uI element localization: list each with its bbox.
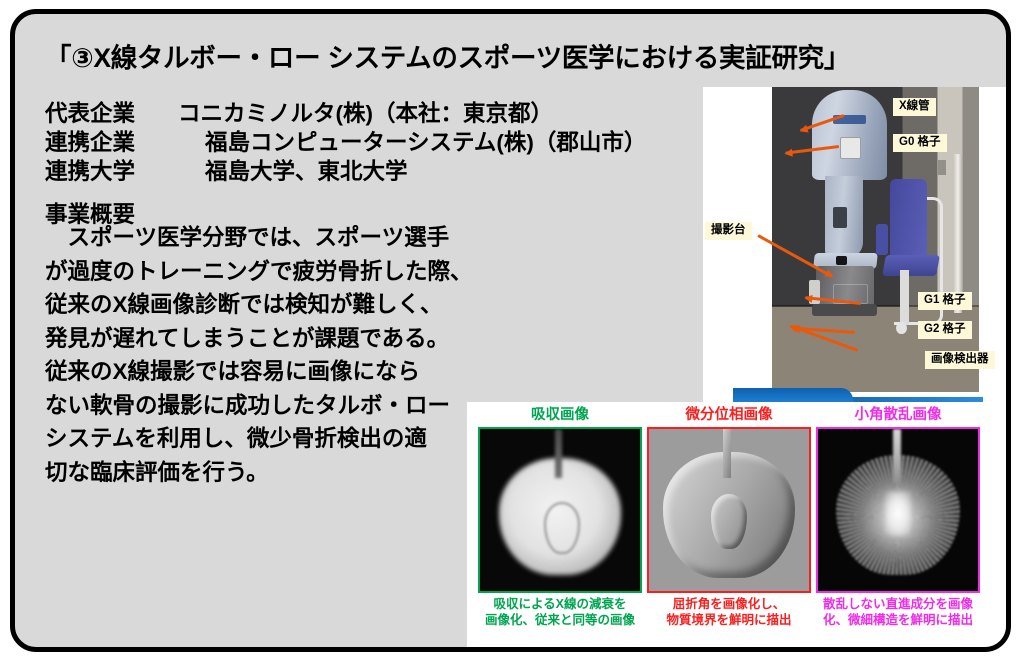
- machine-window: [840, 137, 861, 158]
- caption-line: 物質境界を鮮明に描出: [647, 613, 811, 629]
- callout-xray-tube: X線管: [893, 98, 936, 116]
- partner-value: 福島コンピューターシステム(株)（郡山市）: [205, 130, 646, 155]
- wall-pipe: [954, 154, 962, 313]
- fruit-stem: [723, 429, 731, 478]
- overview-line: 従来のX線撮影では容易に画像になら: [45, 355, 475, 389]
- partner-label: 連携大学: [45, 154, 205, 186]
- callout-g0-grating: G0 格子: [893, 134, 947, 152]
- overview-line: ない軟骨の撮影に成功したタルボ・ロー: [45, 389, 475, 423]
- xray-modality-panel: 吸収画像 吸収によるX線の減衰を 画像化、従来と同等の画像 微分位相画像: [467, 402, 1011, 652]
- page-title: 「③X線タルボー・ロー システムのスポーツ医学における実証研究」: [45, 36, 995, 75]
- chair-backrest: [890, 179, 927, 261]
- fruit-core: [885, 491, 911, 536]
- absorption-xray-image: [480, 429, 640, 591]
- fruit-pit: [711, 494, 746, 549]
- modality-differential-phase: 微分位相画像 屈折角を画像化し、 物質境界を鮮明に描出: [647, 406, 811, 628]
- caption-line: 化、微細構造を鮮明に描出: [816, 613, 980, 629]
- modality-caption: 屈折角を画像化し、 物質境界を鮮明に描出: [647, 597, 811, 628]
- machine-head: [812, 90, 886, 180]
- modality-title: 微分位相画像: [647, 406, 811, 424]
- fruit-stem: [893, 429, 901, 484]
- overview-line: 切な臨床評価を行う。: [45, 456, 475, 490]
- callout-imaging-table: 撮影台: [705, 222, 752, 240]
- caption-line: 吸収によるX線の減衰を: [478, 597, 642, 613]
- callout-g2-grating: G2 格子: [918, 321, 972, 339]
- blue-ribbon-decoration: [703, 378, 1011, 404]
- callout-g1-grating: G1 格子: [918, 292, 972, 310]
- partner-row-university: 連携大学福島大学、東北大学: [45, 154, 408, 186]
- partner-value: コニカミノルタ(株)（本社：東京都）: [178, 101, 553, 126]
- partner-label: 連携企業: [45, 125, 205, 157]
- chair-wheel: [896, 322, 906, 334]
- caption-line: 散乱しない直進成分を画像: [816, 597, 980, 613]
- modality-image: [478, 427, 642, 593]
- modality-caption: 吸収によるX線の減衰を 画像化、従来と同等の画像: [478, 597, 642, 628]
- differential-phase-xray-image: [649, 429, 809, 591]
- fruit-stem: [555, 429, 562, 478]
- caption-line: 画像化、従来と同等の画像: [478, 613, 642, 629]
- chair-post: [900, 270, 908, 325]
- modality-small-angle-scattering: 小角散乱画像 散乱しない直進成分を画像 化、微細構造を鮮明に描出: [816, 406, 980, 628]
- machine-deck-aperture: [836, 256, 847, 265]
- partner-value: 福島大学、東北大学: [205, 159, 408, 184]
- overview-line: スポーツ医学分野では、スポーツ選手: [45, 221, 475, 255]
- partner-label: 代表企業: [45, 96, 178, 128]
- overview-line: が過度のトレーニングで疲労骨折した際、: [45, 255, 475, 289]
- overview-line: 発見が遅れてしまうことが課題である。: [45, 322, 475, 356]
- modality-caption: 散乱しない直進成分を画像 化、微細構造を鮮明に描出: [816, 597, 980, 628]
- small-angle-scattering-xray-image: [818, 429, 978, 591]
- chair-seat: [882, 255, 940, 276]
- overview-body: スポーツ医学分野では、スポーツ選手 が過度のトレーニングで疲労骨折した際、 従来…: [45, 221, 475, 489]
- machine-plinth: [812, 304, 877, 315]
- caption-line: 屈折角を画像化し、: [647, 597, 811, 613]
- slide-frame: 「③X線タルボー・ロー システムのスポーツ医学における実証研究」 代表企業コニカ…: [10, 9, 1011, 652]
- system-photo-panel: X線管 G0 格子 撮影台 G1 格子 G2 格子 画像検出器: [703, 87, 1011, 404]
- modality-image: [816, 427, 980, 593]
- modality-title: 小角散乱画像: [816, 406, 980, 424]
- modality-title: 吸収画像: [478, 406, 642, 424]
- partner-row-representative: 代表企業コニカミノルタ(株)（本社：東京都）: [45, 96, 553, 128]
- wall-sign: [938, 160, 946, 175]
- callout-image-detector: 画像検出器: [925, 351, 995, 369]
- modality-absorption: 吸収画像 吸収によるX線の減衰を 画像化、従来と同等の画像: [478, 406, 642, 628]
- overview-line: システムを利用し、微少骨折検出の適: [45, 422, 475, 456]
- modality-image: [647, 427, 811, 593]
- partner-row-company: 連携企業福島コンピューターシステム(株)（郡山市）: [45, 125, 646, 157]
- overview-line: 従来のX線画像診断では検知が難しく、: [45, 288, 475, 322]
- machine-slot: [833, 207, 847, 227]
